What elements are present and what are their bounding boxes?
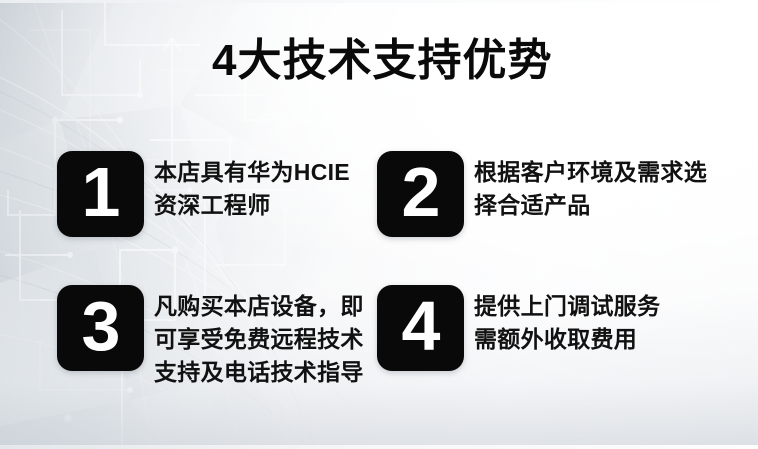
feature-text-line: 需额外收取费用 <box>474 323 660 356</box>
feature-text-1: 本店具有华为HCIE 资深工程师 <box>154 151 350 222</box>
feature-text-line: 本店具有华为HCIE <box>154 156 350 189</box>
feature-number-badge-4: 4 <box>377 285 464 371</box>
feature-item-4: 4 提供上门调试服务 需额外收取费用 <box>377 285 660 371</box>
feature-number-2: 2 <box>402 157 440 227</box>
page-title: 4大技术支持优势 <box>212 36 552 86</box>
feature-text-line: 可享受免费远程技术 <box>154 323 364 356</box>
feature-text-line: 凡购买本店设备，即 <box>154 290 364 323</box>
feature-text-4: 提供上门调试服务 需额外收取费用 <box>474 285 660 356</box>
feature-item-1: 1 本店具有华为HCIE 资深工程师 <box>57 151 350 237</box>
feature-text-2: 根据客户环境及需求选 择合适产品 <box>474 151 707 222</box>
feature-number-badge-2: 2 <box>377 151 464 237</box>
feature-number-badge-3: 3 <box>57 285 144 371</box>
feature-text-line: 根据客户环境及需求选 <box>474 156 707 189</box>
feature-text-line: 提供上门调试服务 <box>474 290 660 323</box>
promo-poster: 4大技术支持优势 1 本店具有华为HCIE 资深工程师 2 根据客户环境及需求选… <box>0 0 758 449</box>
feature-number-1: 1 <box>82 157 120 227</box>
feature-number-3: 3 <box>82 291 120 361</box>
feature-number-4: 4 <box>402 291 440 361</box>
feature-item-3: 3 凡购买本店设备，即 可享受免费远程技术 支持及电话技术指导 <box>57 285 364 389</box>
feature-text-3: 凡购买本店设备，即 可享受免费远程技术 支持及电话技术指导 <box>154 285 364 389</box>
feature-item-2: 2 根据客户环境及需求选 择合适产品 <box>377 151 707 237</box>
feature-text-line: 资深工程师 <box>154 189 350 222</box>
feature-text-line: 支持及电话技术指导 <box>154 356 364 389</box>
feature-number-badge-1: 1 <box>57 151 144 237</box>
feature-text-line: 择合适产品 <box>474 189 707 222</box>
